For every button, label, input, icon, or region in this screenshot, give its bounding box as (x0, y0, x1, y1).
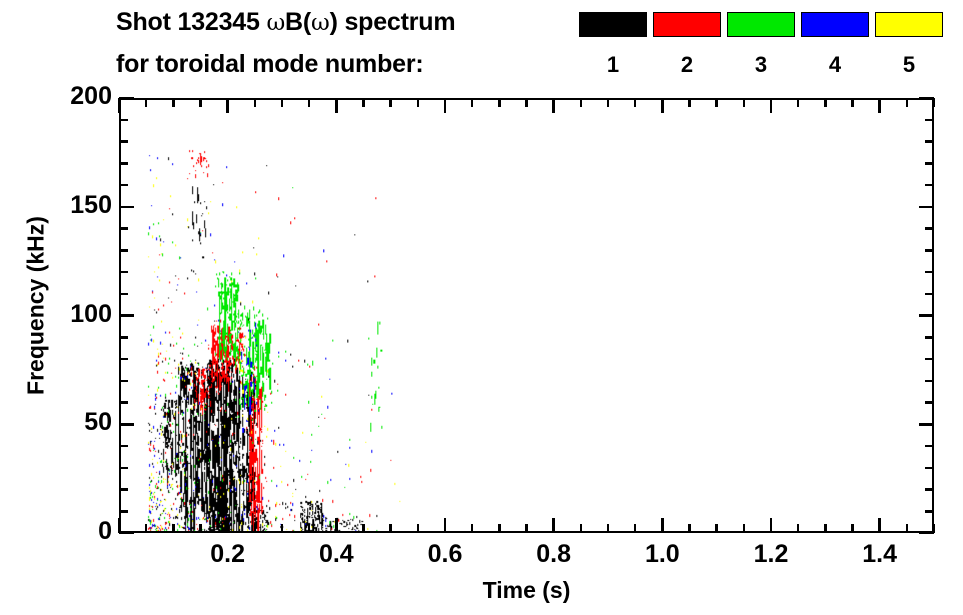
y-tick-70 (119, 380, 128, 383)
x-tick-0.8 (552, 518, 555, 533)
y-tick-label-0: 0 (36, 517, 112, 546)
spectrogram-canvas (121, 100, 932, 531)
legend-label-3: 3 (727, 52, 795, 78)
x-tick-top-0.05 (145, 98, 148, 107)
x-tick-0.7 (498, 524, 501, 533)
x-tick-0.95 (634, 524, 637, 533)
x-tick-top-0.6 (444, 98, 447, 113)
legend-swatch-2 (653, 12, 721, 37)
y-tick-right-200 (919, 97, 934, 100)
x-tick-top-1.4 (878, 98, 881, 113)
x-tick-top-1.45 (906, 98, 909, 107)
y-tick-130 (119, 249, 128, 252)
legend-label-2: 2 (653, 52, 721, 78)
x-tick-top-1.35 (851, 98, 854, 107)
x-tick-0.05 (145, 524, 148, 533)
x-tick-top-1.2 (770, 98, 773, 113)
y-tick-right-90 (925, 336, 934, 339)
legend-item-2: 2 (653, 12, 723, 88)
y-tick-110 (119, 293, 128, 296)
x-tick-label-0.2: 0.2 (188, 540, 268, 569)
x-tick-label-1.2: 1.2 (731, 540, 811, 569)
x-tick-top-1.1 (715, 98, 718, 107)
x-tick-0.9 (607, 524, 610, 533)
legend-swatch-4 (801, 12, 869, 37)
x-tick-label-0.6: 0.6 (405, 540, 485, 569)
x-tick-1.5 (933, 524, 936, 533)
x-tick-top-0.85 (580, 98, 583, 107)
y-tick-right-170 (925, 162, 934, 165)
omega-symbol-1: ω (266, 10, 285, 36)
spectrogram-figure: Shot 132345 ωB(ω) spectrum for toroidal … (0, 0, 963, 615)
y-tick-right-50 (919, 423, 934, 426)
x-tick-top-1.05 (688, 98, 691, 107)
y-tick-60 (119, 401, 128, 404)
x-tick-label-1.0: 1.0 (622, 540, 702, 569)
y-tick-right-30 (925, 467, 934, 470)
x-axis-title: Time (s) (119, 577, 934, 604)
x-tick-top-0.45 (362, 98, 365, 107)
x-tick-label-0.4: 0.4 (296, 540, 376, 569)
x-tick-1.1 (715, 524, 718, 533)
x-tick-top-1.15 (743, 98, 746, 107)
title-b-text: B( (285, 8, 311, 36)
x-tick-label-0.8: 0.8 (514, 540, 594, 569)
y-tick-100 (119, 314, 134, 317)
y-tick-right-70 (925, 380, 934, 383)
x-tick-top-0.95 (634, 98, 637, 107)
title-spectrum-text: ) spectrum (330, 8, 456, 36)
x-tick-top-0.75 (525, 98, 528, 107)
y-tick-10 (119, 510, 128, 513)
x-tick-top-0.1 (172, 98, 175, 107)
y-tick-90 (119, 336, 128, 339)
x-tick-top-0.5 (389, 98, 392, 107)
y-tick-right-80 (925, 358, 934, 361)
x-tick-top-0.4 (335, 98, 338, 113)
x-tick-1.15 (743, 524, 746, 533)
y-tick-right-150 (919, 206, 934, 209)
x-tick-1.25 (797, 524, 800, 533)
y-tick-label-200: 200 (36, 82, 112, 111)
x-tick-1.05 (688, 524, 691, 533)
y-tick-200 (119, 97, 134, 100)
y-tick-right-0 (919, 532, 934, 535)
legend-label-4: 4 (801, 52, 869, 78)
omega-symbol-2: ω (311, 10, 330, 36)
legend-swatch-1 (579, 12, 647, 37)
y-tick-180 (119, 140, 128, 143)
title-shot-text: Shot 132345 (116, 8, 266, 36)
figure-title-line-1: Shot 132345 ωB(ω) spectrum (116, 8, 455, 37)
y-tick-50 (119, 423, 134, 426)
x-tick-top-0 (118, 98, 121, 113)
x-tick-0.3 (281, 524, 284, 533)
x-tick-0.2 (226, 518, 229, 533)
x-tick-top-0.8 (552, 98, 555, 113)
y-tick-right-160 (925, 184, 934, 187)
legend-item-4: 4 (801, 12, 871, 88)
x-tick-0.85 (580, 524, 583, 533)
x-tick-top-0.7 (498, 98, 501, 107)
y-tick-140 (119, 227, 128, 230)
y-tick-120 (119, 271, 128, 274)
legend-swatch-5 (875, 12, 943, 37)
y-tick-170 (119, 162, 128, 165)
x-tick-1.4 (878, 518, 881, 533)
x-tick-1.2 (770, 518, 773, 533)
x-tick-0.65 (471, 524, 474, 533)
y-tick-right-110 (925, 293, 934, 296)
legend-label-5: 5 (875, 52, 943, 78)
x-tick-top-1.3 (824, 98, 827, 107)
y-tick-right-60 (925, 401, 934, 404)
x-tick-top-1.5 (933, 98, 936, 107)
y-tick-40 (119, 445, 128, 448)
legend-item-3: 3 (727, 12, 797, 88)
x-tick-0.4 (335, 518, 338, 533)
legend-swatch-3 (727, 12, 795, 37)
y-tick-right-130 (925, 249, 934, 252)
legend-item-5: 5 (875, 12, 945, 88)
legend-label-1: 1 (579, 52, 647, 78)
x-tick-0.5 (389, 524, 392, 533)
x-tick-top-0.2 (226, 98, 229, 113)
x-tick-0.15 (199, 524, 202, 533)
x-tick-0.75 (525, 524, 528, 533)
x-tick-0.45 (362, 524, 365, 533)
y-tick-160 (119, 184, 128, 187)
plot-area (119, 98, 934, 533)
x-tick-label-1.4: 1.4 (840, 540, 920, 569)
x-tick-top-0.35 (308, 98, 311, 107)
legend-item-1: 1 (579, 12, 649, 88)
figure-title-line-2: for toroidal mode number: (116, 50, 424, 79)
x-tick-top-0.3 (281, 98, 284, 107)
x-tick-1.35 (851, 524, 854, 533)
y-tick-30 (119, 467, 128, 470)
x-tick-top-1.25 (797, 98, 800, 107)
x-tick-0 (118, 518, 121, 533)
legend: 12345 (579, 12, 939, 88)
x-tick-0.35 (308, 524, 311, 533)
x-tick-0.6 (444, 518, 447, 533)
y-tick-0 (119, 532, 134, 535)
x-tick-1.3 (824, 524, 827, 533)
x-tick-0.55 (417, 524, 420, 533)
y-tick-right-10 (925, 510, 934, 513)
y-tick-150 (119, 206, 134, 209)
y-axis-title: Frequency (kHz) (23, 186, 50, 426)
x-tick-top-1 (661, 98, 664, 113)
y-tick-right-20 (925, 488, 934, 491)
x-tick-1.45 (906, 524, 909, 533)
x-tick-1 (661, 518, 664, 533)
x-tick-top-0.9 (607, 98, 610, 107)
y-tick-right-180 (925, 140, 934, 143)
y-tick-right-120 (925, 271, 934, 274)
x-tick-top-0.15 (199, 98, 202, 107)
y-tick-right-190 (925, 119, 934, 122)
x-tick-top-0.25 (254, 98, 257, 107)
y-tick-20 (119, 488, 128, 491)
x-tick-top-0.55 (417, 98, 420, 107)
x-tick-0.25 (254, 524, 257, 533)
y-tick-80 (119, 358, 128, 361)
y-tick-right-100 (919, 314, 934, 317)
y-tick-right-40 (925, 445, 934, 448)
y-tick-190 (119, 119, 128, 122)
x-tick-0.1 (172, 524, 175, 533)
x-tick-top-0.65 (471, 98, 474, 107)
y-tick-right-140 (925, 227, 934, 230)
